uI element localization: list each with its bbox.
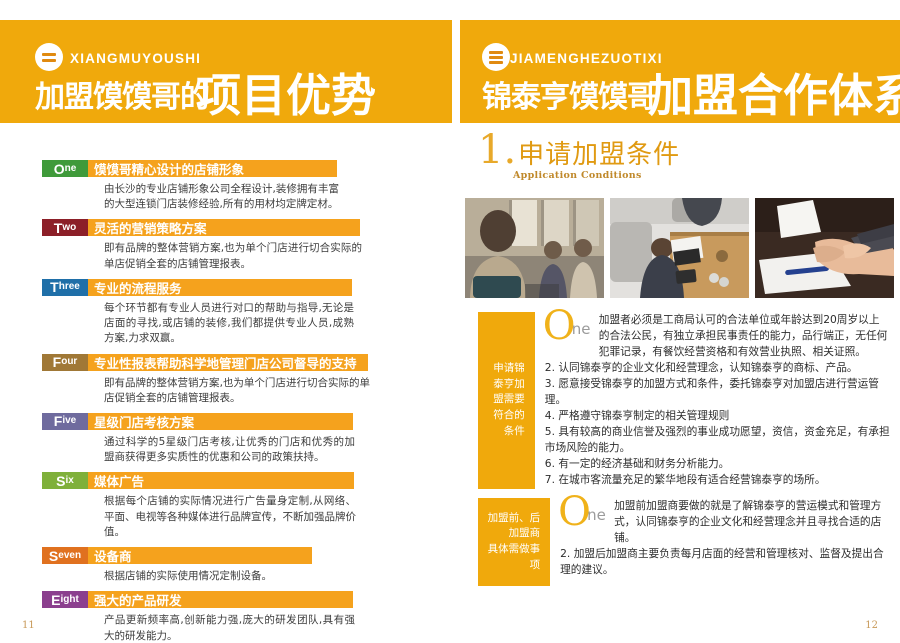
info-block-tag: 申请锦泰亨加盟需要符合的条件: [478, 312, 535, 489]
advantages-list: One馍馍哥精心设计的店铺形象由长沙的专业店铺形象公司全程设计,装修拥有丰富的大…: [42, 160, 382, 643]
right-pinyin: JIAMENGHEZUOTIXI: [510, 51, 663, 66]
advantage-header-bar: Six媒体广告: [42, 472, 354, 489]
ordinal-marker-capital: O: [558, 492, 591, 532]
advantage-number-capital: S: [56, 474, 65, 488]
info-block-tag-text: 申请锦泰亨加盟需要符合的条件: [486, 361, 525, 440]
advantage-body-text: 即有品牌的整体营销方案,也为单个门店进行切合实际的单店促销全套的店铺管理报表。: [104, 241, 362, 271]
advantage-number-rest: hree: [59, 282, 80, 292]
section-title-zh: 申请加盟条件: [518, 142, 680, 168]
brochure-spread: XIANGMUYOUSHI 加盟馍馍哥的 项目优势 JIAMENGHEZUOTI…: [0, 0, 900, 643]
advantage-number-rest: ight: [61, 595, 79, 605]
info-block-conditions: 申请锦泰亨加盟需要符合的条件One加盟者必须是工商局认可的合法单位或年龄达到20…: [478, 312, 890, 489]
overhead-meeting-photo: [610, 198, 749, 298]
photo-strip: [465, 198, 894, 298]
right-title-block: JIAMENGHEZUOTIXI 锦泰亨馍馍哥 加盟合作体系: [460, 20, 900, 123]
advantage-number-capital: F: [53, 355, 62, 369]
info-block-paragraph: 2. 加盟后加盟商主要负责每月店面的经营和管理核对、监督及提出合理的建议。: [560, 546, 890, 578]
advantage-number-rest: ix: [66, 476, 74, 486]
info-block-body: One加盟者必须是工商局认可的合法单位或年龄达到20周岁以上的合法公民，有独立承…: [535, 312, 890, 489]
advantage-header-bar: One馍馍哥精心设计的店铺形象: [42, 160, 337, 177]
advantage-number-rest: our: [61, 357, 77, 367]
advantage-title: 设备商: [88, 547, 312, 564]
info-block-tag-text: 加盟前、后加盟商具体需做事项: [486, 511, 540, 574]
advantage-item: Seven设备商根据店铺的实际使用情况定制设备。: [42, 547, 382, 584]
info-block-tag: 加盟前、后加盟商具体需做事项: [478, 498, 550, 586]
advantage-number-rest: ive: [62, 416, 76, 426]
advantage-number-capital: T: [50, 280, 59, 294]
advantage-body-text: 产品更新频率高,创新能力强,庞大的研发团队,具有强大的研发能力。: [104, 613, 355, 643]
advantage-number-capital: E: [51, 593, 60, 607]
advantage-header-bar: Three专业的流程服务: [42, 279, 352, 296]
advantage-body-text: 即有品牌的整体营销方案,也为单个门店进行切合实际的单店促销全套的店铺管理报表。: [104, 376, 370, 406]
advantage-number-badge: One: [42, 160, 88, 177]
advantage-body-text: 由长沙的专业店铺形象公司全程设计,装修拥有丰富的大型连锁门店装修经验,所有的用材…: [104, 182, 339, 212]
advantage-number-capital: S: [49, 549, 58, 563]
advantage-item: One馍馍哥精心设计的店铺形象由长沙的专业店铺形象公司全程设计,装修拥有丰富的大…: [42, 160, 382, 212]
page-number-right: 12: [865, 620, 878, 631]
info-block-paragraph: 5. 具有较高的商业信誉及强烈的事业成功愿望，资信，资金充足，有承担市场风险的能…: [545, 424, 890, 456]
info-block-paragraph: 4. 严格遵守锦泰亨制定的相关管理规则: [545, 408, 890, 424]
advantage-number-badge: Six: [42, 472, 88, 489]
advantage-title: 强大的产品研发: [88, 591, 353, 608]
advantage-body-text: 每个环节都有专业人员进行对口的帮助与指导,无论是店面的寻找,或店铺的装修,我们都…: [104, 301, 354, 347]
advantage-title: 灵活的营销策略方案: [88, 219, 360, 236]
advantage-number-badge: Five: [42, 413, 88, 430]
advantage-number-capital: O: [54, 162, 65, 176]
info-block-paragraph: 6. 有一定的经济基础和财务分析能力。: [545, 456, 890, 472]
advantage-number-capital: F: [54, 414, 63, 428]
hamburger-three-bars-icon: [482, 43, 510, 71]
advantage-number-badge: Eight: [42, 591, 88, 608]
advantage-number-rest: wo: [62, 223, 76, 233]
advantage-title: 馍馍哥精心设计的店铺形象: [88, 160, 337, 177]
info-block-body: One加盟前加盟商要做的就是了解锦泰亨的营运模式和管理方式，认同锦泰亨的企业文化…: [550, 498, 890, 586]
section-number: 1.: [478, 132, 516, 168]
advantage-header-bar: Two灵活的营销策略方案: [42, 219, 360, 236]
info-block-paragraph: 7. 在城市客流量充足的繁华地段有适合经营锦泰亨的场所。: [545, 472, 890, 488]
advantage-item: Three专业的流程服务每个环节都有专业人员进行对口的帮助与指导,无论是店面的寻…: [42, 279, 382, 347]
hamburger-two-bars-icon: [35, 43, 63, 71]
info-block-procedures: 加盟前、后加盟商具体需做事项One加盟前加盟商要做的就是了解锦泰亨的营运模式和管…: [478, 498, 890, 586]
advantage-title: 媒体广告: [88, 472, 354, 489]
info-block-first-paragraph: 加盟前加盟商要做的就是了解锦泰亨的营运模式和管理方式，认同锦泰亨的企业文化和经营…: [560, 498, 890, 546]
advantage-item: Eight强大的产品研发产品更新频率高,创新能力强,庞大的研发团队,具有强大的研…: [42, 591, 382, 643]
advantage-number-rest: ne: [65, 164, 77, 174]
advantage-header-bar: Five星级门店考核方案: [42, 413, 353, 430]
right-subtitle-zh: 锦泰亨馍馍哥: [482, 72, 656, 116]
advantage-title: 专业性报表帮助科学地管理门店公司督导的支持: [88, 354, 368, 371]
seminar-audience-photo: [465, 198, 604, 298]
advantage-item: Five星级门店考核方案通过科学的5星级门店考核,让优秀的门店和优秀的加盟商获得…: [42, 413, 382, 465]
info-block-first-paragraph: 加盟者必须是工商局认可的合法单位或年龄达到20周岁以上的合法公民，有独立承担民事…: [545, 312, 890, 360]
ordinal-marker-rest: ne: [587, 508, 606, 523]
advantage-body-text: 根据店铺的实际使用情况定制设备。: [104, 569, 314, 584]
handshake-contract-photo: [755, 198, 894, 298]
section-title: 1. 申请加盟条件: [478, 132, 680, 168]
left-title-block: XIANGMUYOUSHI 加盟馍馍哥的 项目优势: [0, 20, 451, 123]
advantage-number-rest: even: [58, 551, 81, 561]
advantage-body-text: 根据每个店铺的实际情况进行广告量身定制,从网络、平面、电视等各种媒体进行品牌宣传…: [104, 494, 356, 540]
ordinal-marker-rest: ne: [572, 322, 591, 337]
advantage-item: Two灵活的营销策略方案即有品牌的整体营销方案,也为单个门店进行切合实际的单店促…: [42, 219, 382, 271]
left-title-zh: 项目优势: [196, 59, 376, 124]
advantage-header-bar: Four专业性报表帮助科学地管理门店公司督导的支持: [42, 354, 368, 371]
advantage-item: Six媒体广告根据每个店铺的实际情况进行广告量身定制,从网络、平面、电视等各种媒…: [42, 472, 382, 540]
advantage-number-badge: Three: [42, 279, 88, 296]
advantage-header-bar: Eight强大的产品研发: [42, 591, 353, 608]
left-subtitle-zh: 加盟馍馍哥的: [35, 72, 209, 116]
advantage-title: 专业的流程服务: [88, 279, 352, 296]
left-pinyin: XIANGMUYOUSHI: [70, 51, 201, 66]
advantage-number-badge: Four: [42, 354, 88, 371]
advantage-number-badge: Seven: [42, 547, 88, 564]
info-block-paragraph: 2. 认同锦泰亨的企业文化和经营理念，认知锦泰亨的商标、产品。: [545, 360, 890, 376]
advantage-number-badge: Two: [42, 219, 88, 236]
right-title-zh: 加盟合作体系: [648, 59, 900, 124]
advantage-item: Four专业性报表帮助科学地管理门店公司督导的支持即有品牌的整体营销方案,也为单…: [42, 354, 382, 406]
page-number-left: 11: [22, 620, 35, 631]
info-block-paragraph: 3. 愿意接受锦泰亨的加盟方式和条件，委托锦泰亨对加盟店进行营运管理。: [545, 376, 890, 408]
ordinal-marker-capital: O: [543, 306, 576, 346]
advantage-body-text: 通过科学的5星级门店考核,让优秀的门店和优秀的加盟商获得更多实质性的优惠和公司的…: [104, 435, 355, 465]
section-title-en: Application Conditions: [513, 170, 642, 181]
advantage-header-bar: Seven设备商: [42, 547, 312, 564]
advantage-title: 星级门店考核方案: [88, 413, 353, 430]
